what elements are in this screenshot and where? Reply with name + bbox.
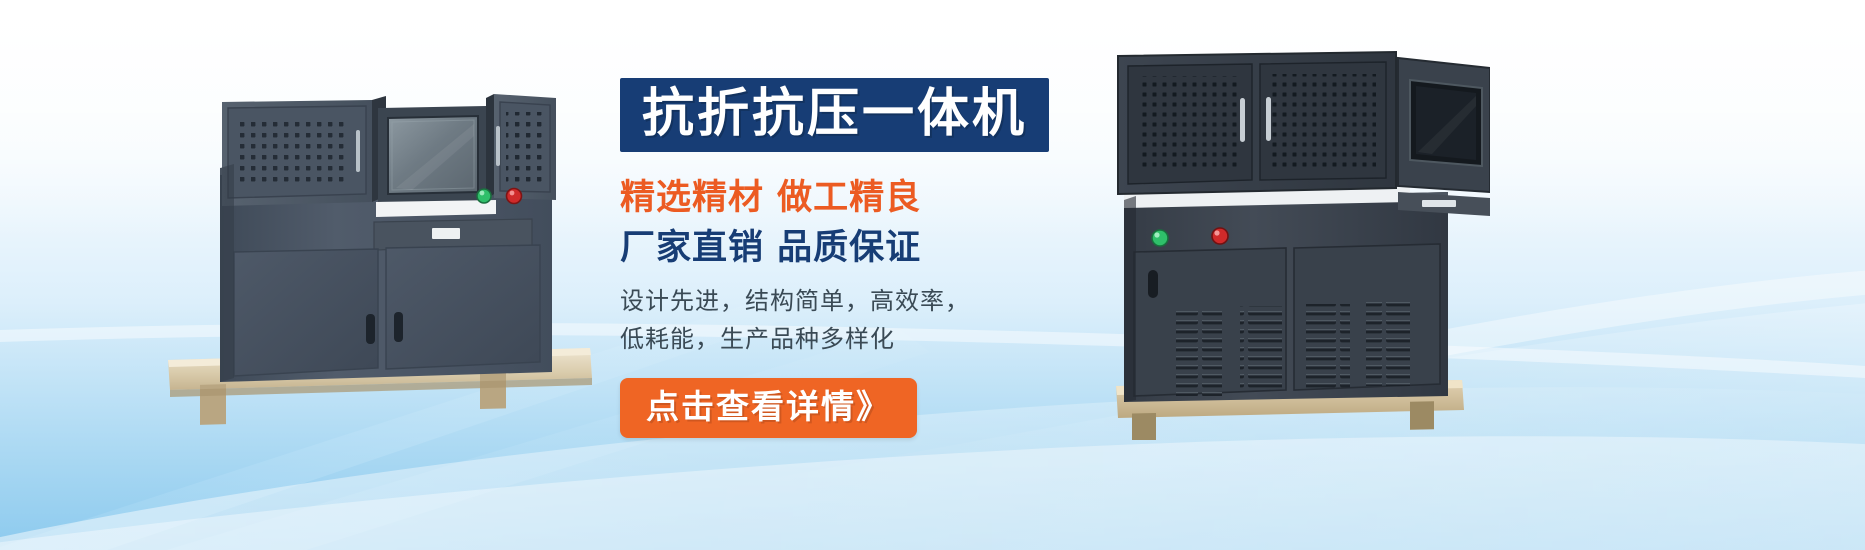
door-handle-icon — [496, 126, 500, 166]
headline-band: 抗折抗压一体机 — [620, 78, 1049, 152]
perforation-grid-left — [238, 118, 348, 188]
cabinet-left-top — [222, 96, 386, 206]
red-indicator-light — [507, 189, 522, 204]
product-image-left — [160, 42, 600, 432]
door-handle-icon — [366, 314, 375, 344]
tagline-primary: 精选精材 做工精良 — [620, 178, 1280, 218]
view-details-button[interactable]: 点击查看详情》 — [620, 378, 917, 438]
headline-text: 抗折抗压一体机 — [642, 87, 1027, 141]
tagline-secondary: 厂家直销 品质保证 — [620, 228, 1280, 268]
description-line-2: 低耗能，生产品种多样化 — [620, 320, 1280, 358]
door-handle-icon — [394, 312, 403, 342]
promo-banner: 抗折抗压一体机 精选精材 做工精良 厂家直销 品质保证 设计先进，结构简单，高效… — [0, 0, 1865, 550]
view-details-label: 点击查看详情》 — [646, 387, 891, 426]
indicator-lights-left-group — [470, 182, 540, 210]
vent-louvers — [1306, 304, 1350, 390]
label-plate — [1422, 200, 1456, 207]
green-indicator-light — [477, 189, 491, 203]
lower-doors-left — [234, 245, 540, 376]
vent-louvers — [1366, 302, 1410, 386]
door-handle-icon — [356, 130, 360, 172]
description-line-1: 设计先进，结构简单，高效率， — [620, 282, 1280, 320]
label-plate — [432, 228, 460, 239]
banner-text-block: 抗折抗压一体机 精选精材 做工精良 厂家直销 品质保证 设计先进，结构简单，高效… — [620, 78, 1280, 438]
